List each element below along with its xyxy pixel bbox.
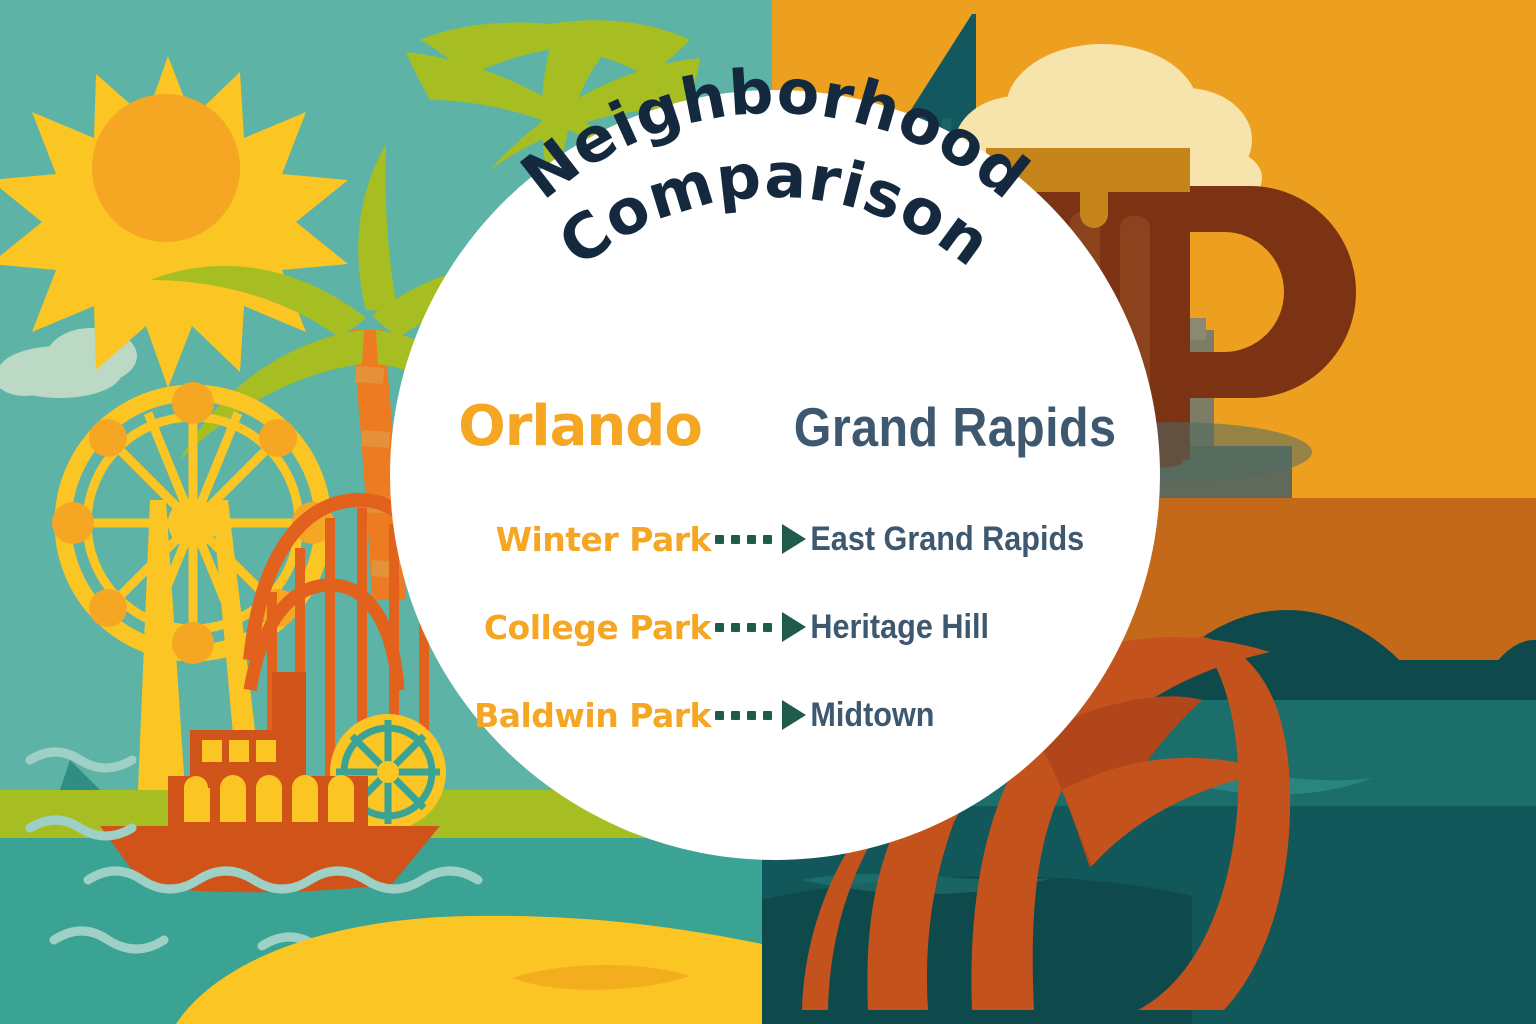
riverboat-icon	[100, 672, 446, 892]
arrow-dot-icon	[715, 623, 724, 632]
arrow-dot-icon	[731, 535, 740, 544]
page-title: Neighborhood Comparison	[390, 120, 1160, 380]
beach-icon	[170, 916, 790, 1024]
orlando-neighborhood: Winter Park	[420, 523, 715, 556]
arrow-dot-icon	[763, 711, 772, 720]
city-heading-grand-rapids: Grand Rapids	[794, 400, 1084, 455]
water-band	[762, 876, 1192, 1024]
arrow-dot-icon	[763, 623, 772, 632]
arrow-head-icon	[782, 700, 806, 730]
cloud-icon	[0, 328, 137, 398]
orlando-neighborhood: College Park	[420, 611, 715, 644]
infographic-canvas: Neighborhood Comparison Orlando Grand Ra…	[0, 0, 1536, 1024]
arrow-dot-icon	[731, 711, 740, 720]
arrow-dot-icon	[747, 623, 756, 632]
city-heading-orlando: Orlando	[430, 399, 730, 455]
sun-icon	[0, 56, 348, 388]
list-item: College Park Heritage Hill	[420, 583, 1130, 671]
city-headings: Orlando Grand Rapids	[430, 365, 1120, 455]
mountain-icon	[0, 760, 470, 1000]
river-icon	[0, 838, 790, 1024]
wave-icon	[30, 752, 478, 955]
dotted-arrow-icon	[715, 700, 805, 730]
arrow-dot-icon	[747, 535, 756, 544]
list-item: Winter Park East Grand Rapids	[420, 495, 1130, 583]
arrow-dot-icon	[731, 623, 740, 632]
ferris-wheel-icon	[52, 382, 334, 790]
arrow-head-icon	[782, 524, 806, 554]
sand-patch	[512, 965, 690, 990]
arrow-dot-icon	[715, 711, 724, 720]
grand-rapids-neighborhood: Midtown	[805, 698, 1098, 732]
dotted-arrow-icon	[715, 612, 805, 642]
grand-rapids-neighborhood: East Grand Rapids	[805, 522, 1098, 556]
grand-rapids-neighborhood: Heritage Hill	[805, 610, 1098, 644]
arrow-head-icon	[782, 612, 806, 642]
arrow-dot-icon	[747, 711, 756, 720]
arrow-dot-icon	[715, 535, 724, 544]
arrow-dot-icon	[763, 535, 772, 544]
neighborhood-pair-list: Winter Park East Grand Rapids College Pa…	[420, 495, 1130, 759]
dotted-arrow-icon	[715, 524, 805, 554]
orlando-neighborhood: Baldwin Park	[420, 699, 715, 732]
list-item: Baldwin Park Midtown	[420, 671, 1130, 759]
